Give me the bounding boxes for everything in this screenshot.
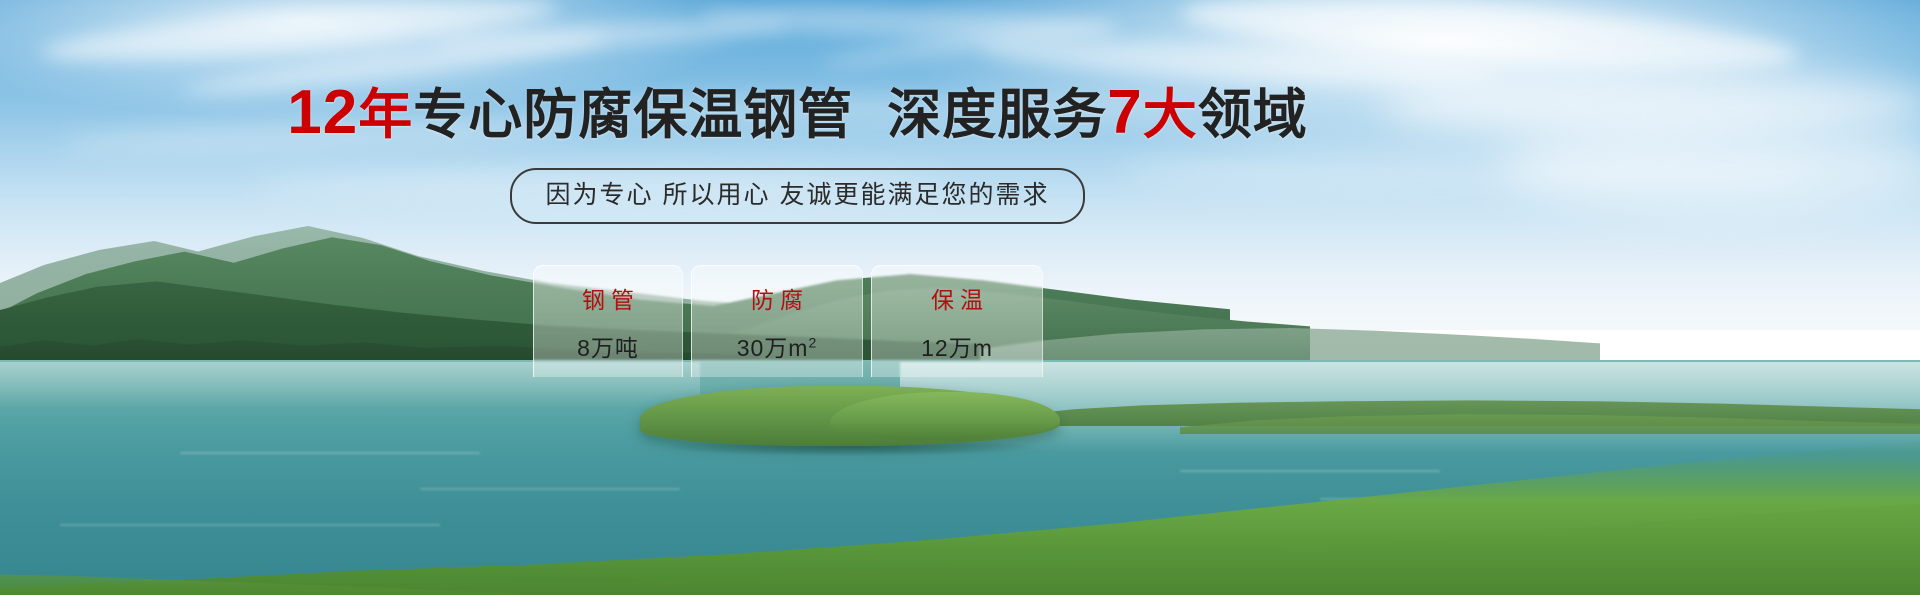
- banner-subtitle-wrap: 因为专心 所以用心 友诚更能满足您的需求: [0, 168, 1595, 224]
- stat-card-insulation: 保温 12万m: [871, 265, 1043, 377]
- banner-headline: 12年专心防腐保温钢管深度服务7大领域: [0, 82, 1595, 146]
- stat-card-label: 保温: [925, 281, 989, 315]
- headline-fields-unit: 大: [1143, 85, 1198, 145]
- stat-card-value-superscript: 2: [808, 334, 817, 350]
- stat-card-label: 防腐: [745, 281, 809, 315]
- headline-segment-specialty: 专心防腐保温钢管: [413, 85, 853, 145]
- banner-subtitle-pill: 因为专心 所以用心 友诚更能满足您的需求: [510, 168, 1086, 224]
- stat-card-value-main: 30万m: [737, 335, 809, 361]
- stat-card-steel-pipe: 钢管 8万吨: [533, 265, 683, 377]
- headline-years-number: 12: [287, 78, 358, 147]
- stat-card-label: 钢管: [576, 281, 640, 315]
- banner-content: 12年专心防腐保温钢管深度服务7大领域 因为专心 所以用心 友诚更能满足您的需求…: [0, 0, 1920, 595]
- stat-cards: 钢管 8万吨 防腐 30万m2 保温 12万m: [533, 265, 1043, 377]
- stat-card-value: 30万m2: [737, 329, 818, 363]
- headline-segment-service: 深度服务: [887, 85, 1107, 145]
- stat-card-value: 12万m: [921, 329, 993, 363]
- headline-segment-fields: 领域: [1198, 85, 1308, 145]
- headline-fields-number: 7: [1107, 78, 1142, 147]
- stat-card-value: 8万吨: [577, 329, 639, 363]
- headline-years-unit: 年: [358, 85, 413, 145]
- hero-banner: 12年专心防腐保温钢管深度服务7大领域 因为专心 所以用心 友诚更能满足您的需求…: [0, 0, 1920, 595]
- stat-card-anticorrosion: 防腐 30万m2: [691, 265, 863, 377]
